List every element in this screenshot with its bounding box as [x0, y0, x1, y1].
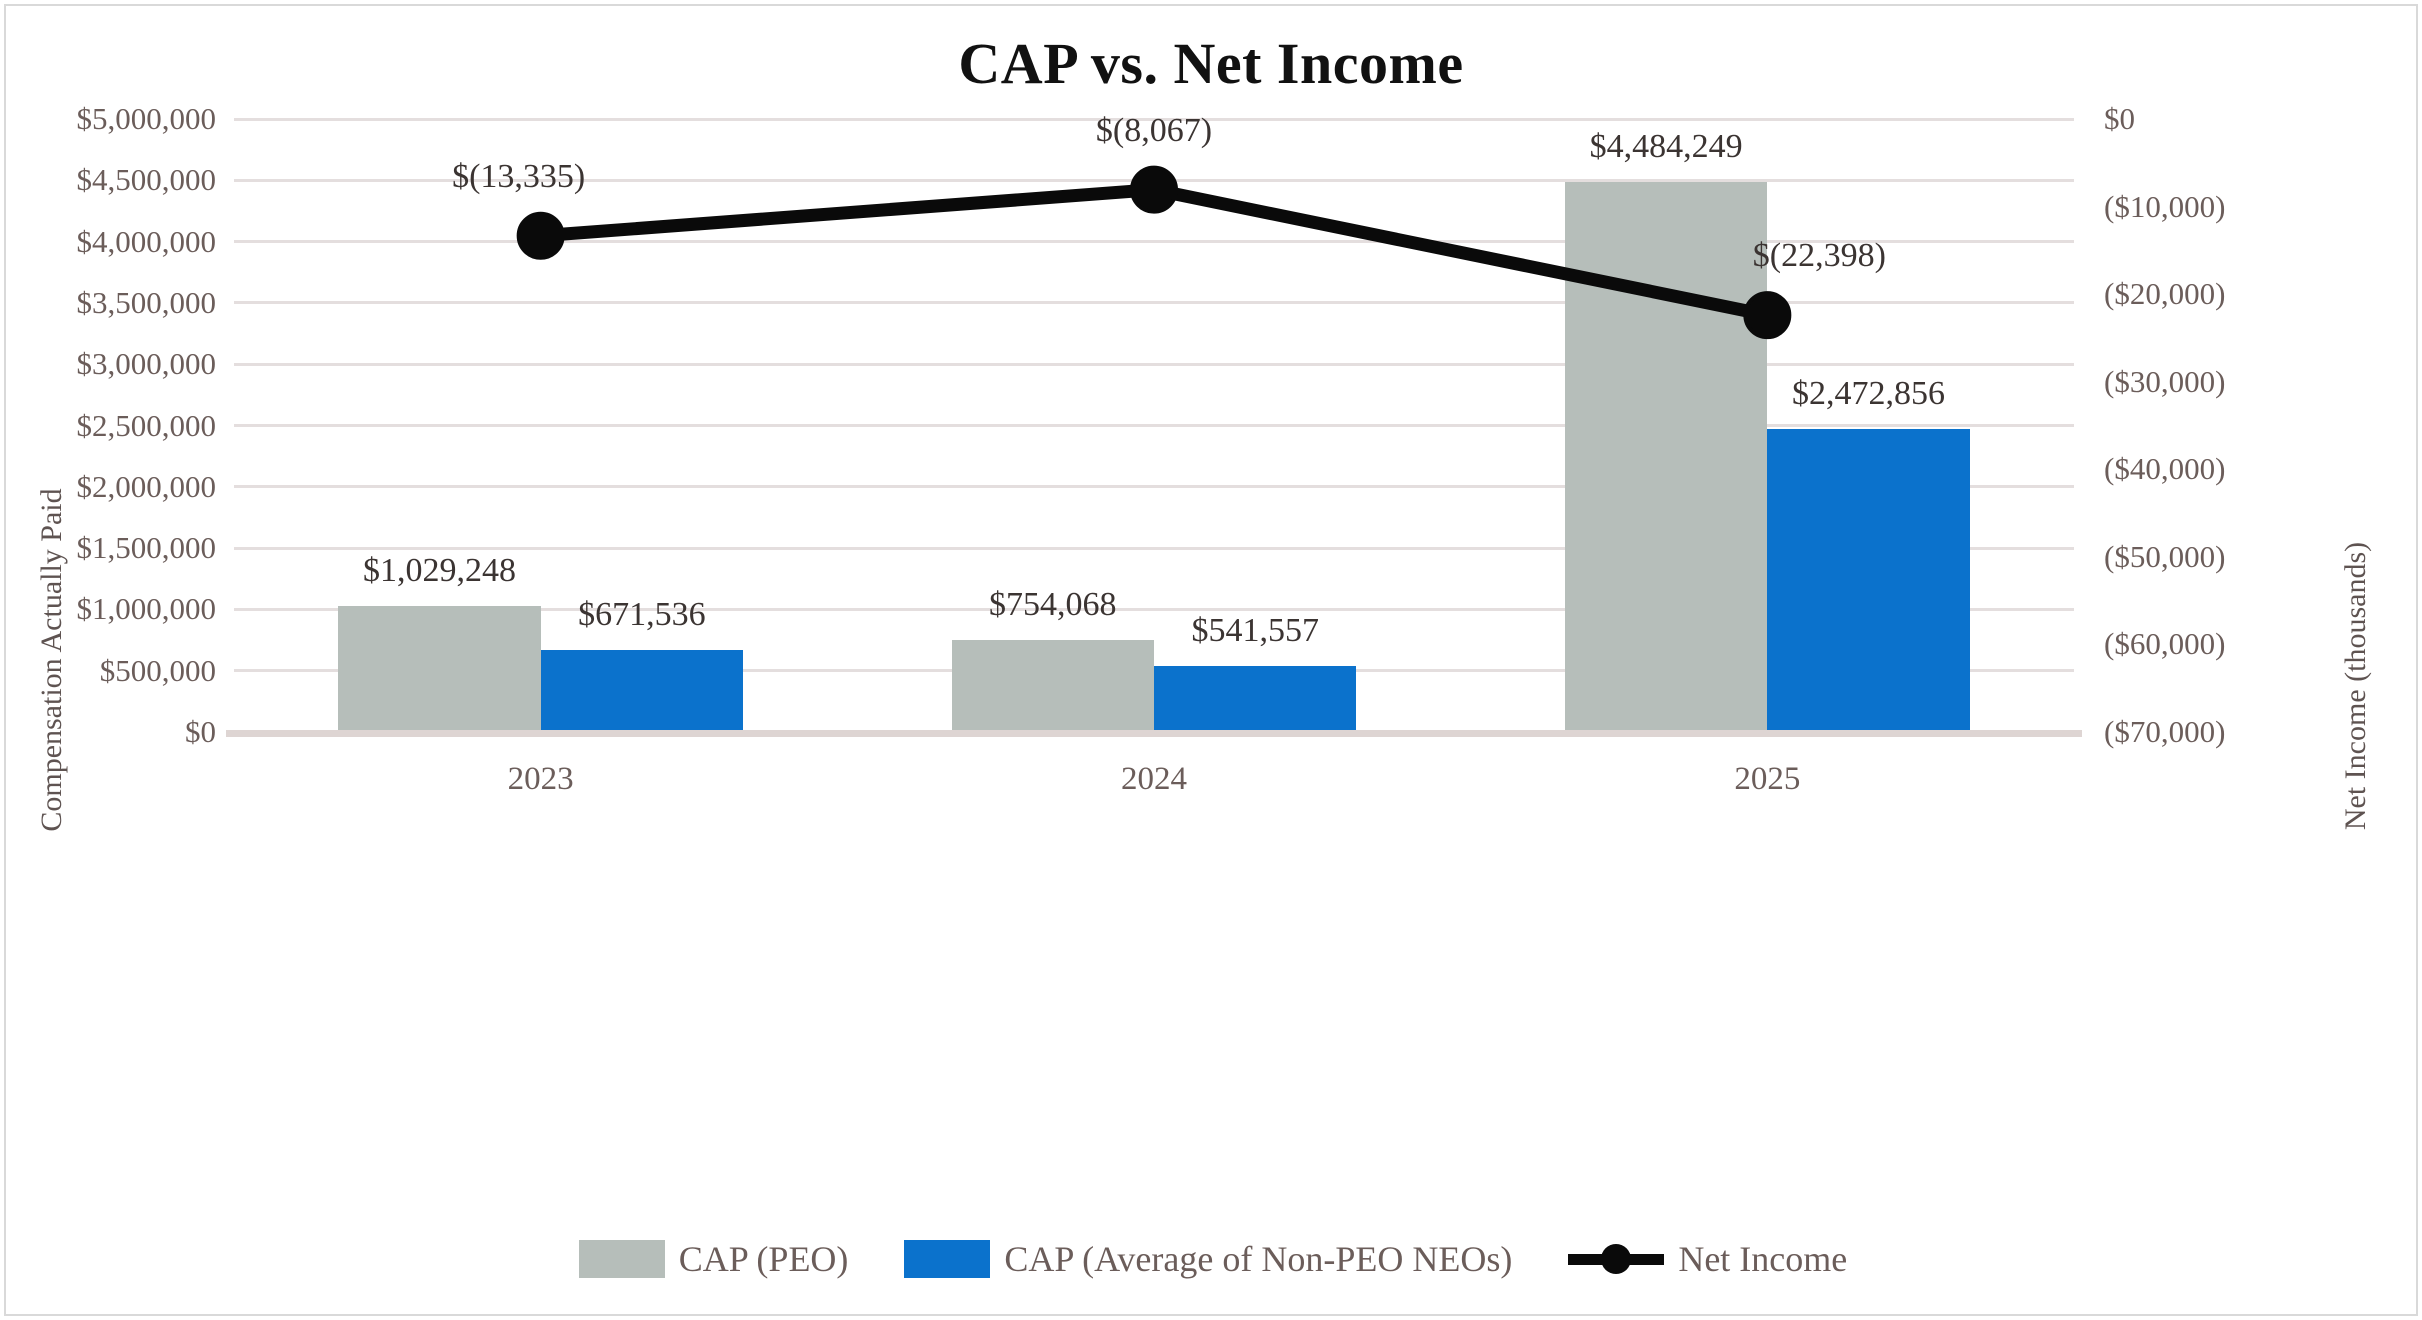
y-axis-right-tick-label: ($20,000) [2104, 276, 2334, 312]
legend-item[interactable]: CAP (PEO) [579, 1238, 849, 1280]
chart-container: CAP vs. Net Income Compensation Actually… [4, 4, 2418, 1316]
legend-label: CAP (PEO) [679, 1238, 849, 1280]
chart-title: CAP vs. Net Income [6, 30, 2416, 97]
x-axis-line [226, 730, 2082, 737]
bar-value-label: $4,484,249 [1496, 128, 1836, 166]
x-axis-tick-label: 2025 [1617, 761, 1917, 798]
y-axis-right-tick-label: ($40,000) [2104, 451, 2334, 487]
net-income-marker [519, 214, 563, 258]
legend-line-marker-icon [1568, 1240, 1664, 1278]
legend-swatch [904, 1240, 990, 1278]
y-axis-left-tick-label: $0 [6, 714, 216, 750]
y-axis-left-tick-label: $3,500,000 [6, 285, 216, 321]
line-value-label: $(13,335) [349, 158, 689, 196]
y-axis-right-tick-label: ($30,000) [2104, 364, 2334, 400]
legend-label: CAP (Average of Non-PEO NEOs) [1004, 1238, 1512, 1280]
bar-value-label: $671,536 [472, 596, 812, 634]
y-axis-left-tick-label: $5,000,000 [6, 101, 216, 137]
y-axis-left-tick-label: $4,500,000 [6, 162, 216, 198]
y-axis-left-tick-label: $2,500,000 [6, 408, 216, 444]
x-axis-tick-label: 2023 [391, 761, 691, 798]
y-axis-left-tick-label: $1,000,000 [6, 591, 216, 627]
y-axis-right-title: Net Income (thousands) [2339, 542, 2373, 830]
y-axis-right-tick-label: ($60,000) [2104, 626, 2334, 662]
y-axis-left-tick-label: $4,000,000 [6, 224, 216, 260]
chart-legend: CAP (PEO)CAP (Average of Non-PEO NEOs)Ne… [6, 1238, 2420, 1280]
bar-value-label: $541,557 [1085, 612, 1425, 650]
y-axis-left-tick-label: $2,000,000 [6, 469, 216, 505]
legend-label: Net Income [1678, 1238, 1847, 1280]
x-axis-tick-label: 2024 [1004, 761, 1304, 798]
y-axis-left-tick-label: $1,500,000 [6, 530, 216, 566]
y-axis-right-tick-label: ($70,000) [2104, 714, 2334, 750]
y-axis-right-tick-label: ($50,000) [2104, 539, 2334, 575]
y-axis-left-tick-label: $3,000,000 [6, 346, 216, 382]
net-income-marker [1132, 168, 1176, 212]
bar-value-label: $2,472,856 [1699, 375, 2039, 413]
bar-value-label: $1,029,248 [269, 552, 609, 590]
y-axis-right-tick-label: ($10,000) [2104, 189, 2334, 225]
net-income-marker [1745, 293, 1789, 337]
legend-swatch [579, 1240, 665, 1278]
legend-item[interactable]: Net Income [1568, 1238, 1847, 1280]
line-value-label: $(22,398) [1649, 237, 1989, 275]
y-axis-left-tick-label: $500,000 [6, 653, 216, 689]
legend-item[interactable]: CAP (Average of Non-PEO NEOs) [904, 1238, 1512, 1280]
line-value-label: $(8,067) [984, 112, 1324, 150]
y-axis-right-tick-label: $0 [2104, 101, 2334, 137]
